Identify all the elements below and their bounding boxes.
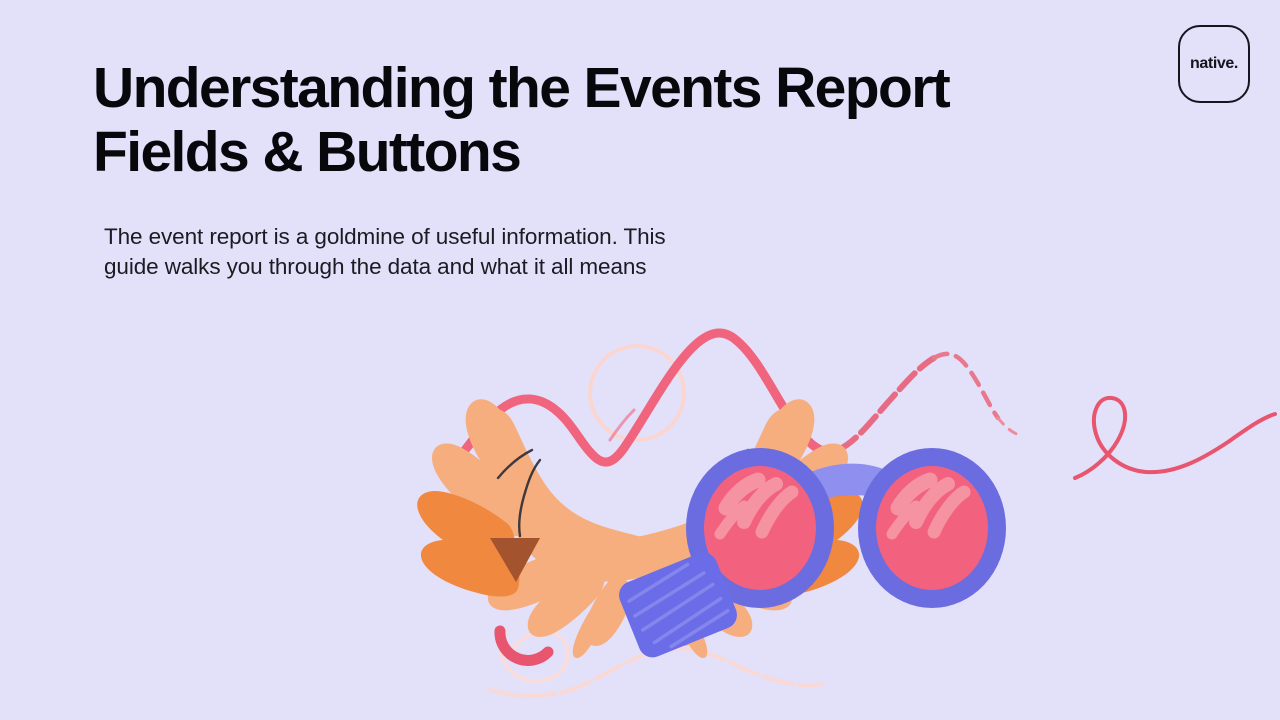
page-subtitle: The event report is a goldmine of useful… <box>104 222 834 282</box>
native-logo-text: native. <box>1190 55 1238 73</box>
hero-illustration <box>0 300 1280 720</box>
pink-loop-squiggle <box>1075 398 1275 478</box>
pink-wave-stroke <box>452 333 1022 465</box>
slide-canvas: native. Understanding the Events Report … <box>0 0 1280 720</box>
native-logo-badge[interactable]: native. <box>1178 25 1250 103</box>
page-title: Understanding the Events Report Fields &… <box>93 56 1053 184</box>
binocular-right-barrel <box>858 448 1006 608</box>
